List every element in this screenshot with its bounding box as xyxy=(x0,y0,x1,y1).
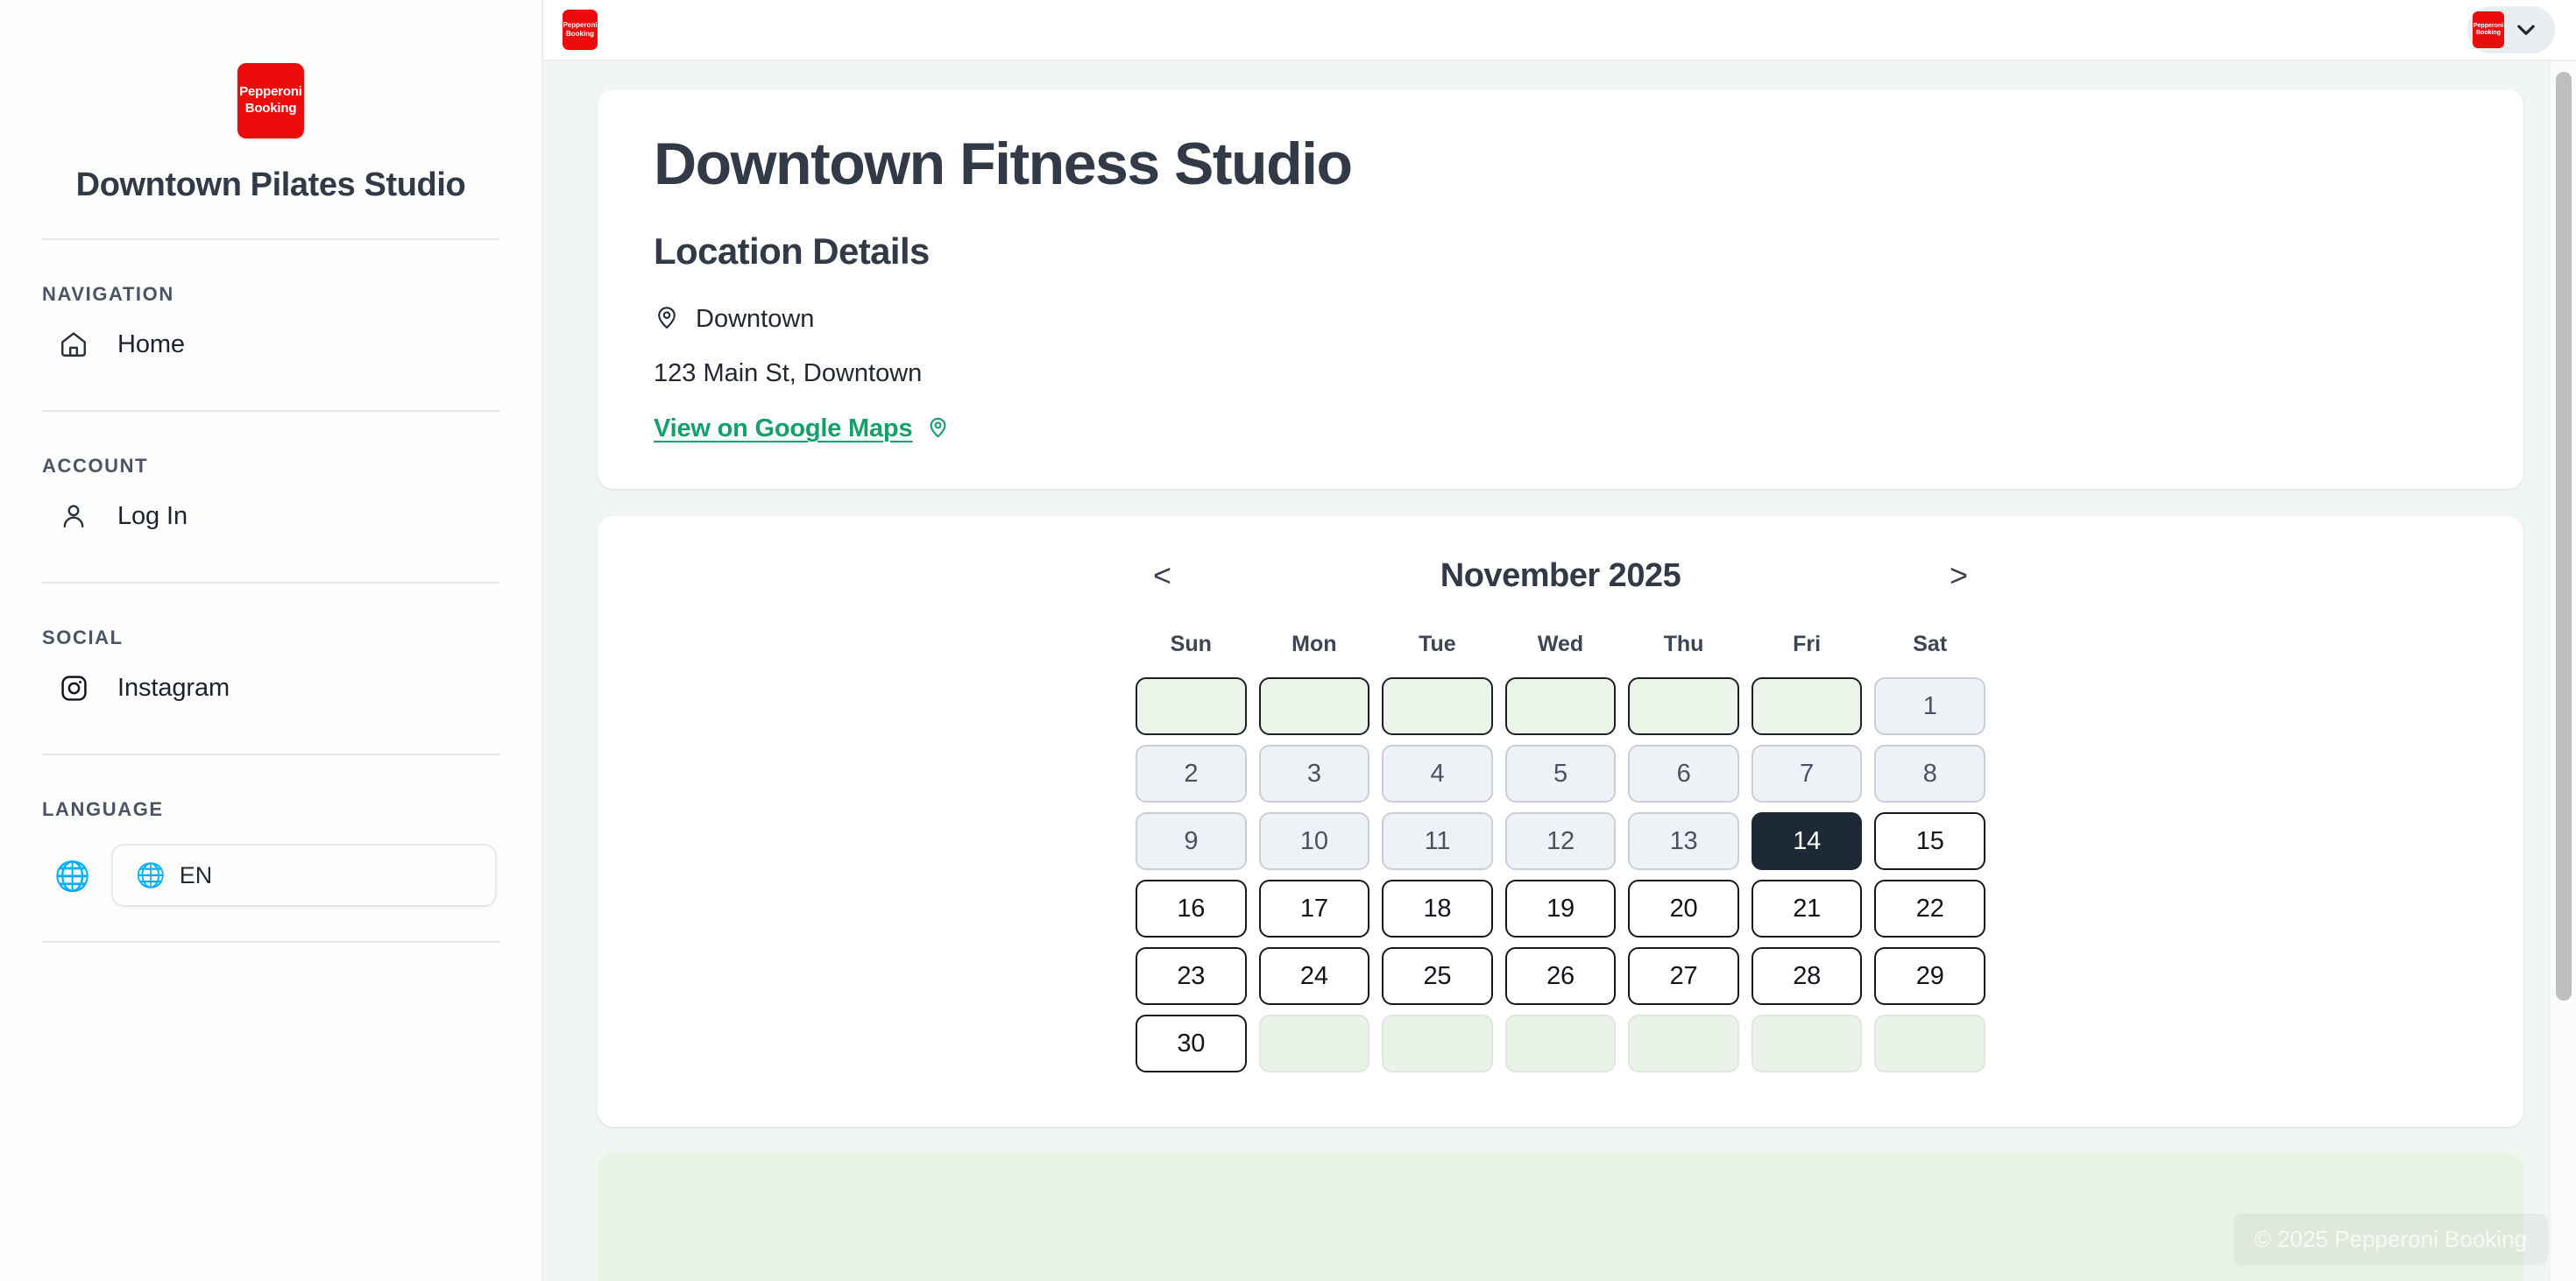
calendar-next-month-button[interactable]: > xyxy=(1937,556,1980,595)
calendar-day-5: 5 xyxy=(1505,745,1617,803)
brand-logo-line1: Pepperoni xyxy=(239,84,302,99)
calendar-day-7: 7 xyxy=(1752,745,1863,803)
account-avatar: Pepperoni Booking xyxy=(2473,11,2504,48)
studio-name: Downtown Pilates Studio xyxy=(76,166,466,204)
language-select[interactable]: 🌐 EN xyxy=(111,844,497,907)
sidebar-section-label-account: ACCOUNT xyxy=(42,455,499,478)
calendar-day-24[interactable]: 24 xyxy=(1259,947,1370,1005)
user-icon xyxy=(56,499,91,534)
calendar-day-2: 2 xyxy=(1136,745,1247,803)
map-pin-icon-link xyxy=(926,415,950,443)
calendar-day-13: 13 xyxy=(1628,812,1739,870)
account-logo-line2: Booking xyxy=(2476,30,2501,36)
topbar-logo[interactable]: Pepperoni Booking xyxy=(563,10,598,50)
calendar-day-28[interactable]: 28 xyxy=(1752,947,1863,1005)
calendar-weekday-tue: Tue xyxy=(1382,632,1493,668)
account-logo-line1: Pepperoni xyxy=(2473,23,2503,29)
topbar-logo-line1: Pepperoni xyxy=(563,21,597,29)
calendar-empty-cell xyxy=(1874,1015,1985,1072)
home-icon xyxy=(56,327,91,362)
calendar-empty-cell xyxy=(1752,677,1863,735)
calendar-day-16[interactable]: 16 xyxy=(1136,880,1247,938)
calendar-day-6: 6 xyxy=(1628,745,1739,803)
scrollbar-thumb[interactable] xyxy=(2556,72,2572,1001)
calendar-day-9: 9 xyxy=(1136,812,1247,870)
calendar-weekday-fri: Fri xyxy=(1752,632,1863,668)
map-pin-icon xyxy=(654,304,680,335)
calendar-day-11: 11 xyxy=(1382,812,1493,870)
calendar-day-29[interactable]: 29 xyxy=(1874,947,1985,1005)
language-selected-value: EN xyxy=(180,862,213,889)
calendar-grid: SunMonTueWedThuFriSat1234567891011121314… xyxy=(1136,632,1985,1072)
globe-icon: 🌐 xyxy=(54,861,90,890)
language-row: 🌐 🌐 EN xyxy=(42,844,499,907)
page-title: Downtown Fitness Studio xyxy=(654,133,2467,195)
calendar-empty-cell xyxy=(1382,677,1493,735)
location-details-card: Downtown Fitness Studio Location Details… xyxy=(598,89,2523,489)
sidebar-divider-5 xyxy=(42,941,499,943)
calendar-day-26[interactable]: 26 xyxy=(1505,947,1617,1005)
calendar-empty-cell xyxy=(1628,1015,1739,1072)
location-address: 123 Main St, Downtown xyxy=(654,359,2467,388)
calendar-day-8: 8 xyxy=(1874,745,1985,803)
calendar-empty-cell xyxy=(1259,1015,1370,1072)
calendar-weekday-sat: Sat xyxy=(1874,632,1985,668)
location-name-row: Downtown xyxy=(654,304,2467,335)
calendar-day-12: 12 xyxy=(1505,812,1617,870)
calendar-day-25[interactable]: 25 xyxy=(1382,947,1493,1005)
calendar-empty-cell xyxy=(1752,1015,1863,1072)
sidebar-divider-1 xyxy=(42,238,499,240)
calendar-day-15[interactable]: 15 xyxy=(1874,812,1985,870)
calendar-header: < November 2025 > xyxy=(1136,556,1985,595)
calendar-day-14[interactable]: 14 xyxy=(1752,812,1863,870)
sidebar-section-label-navigation: NAVIGATION xyxy=(42,283,499,306)
sidebar-item-home[interactable]: Home xyxy=(42,313,499,376)
location-details-heading: Location Details xyxy=(654,230,2467,272)
calendar-day-4: 4 xyxy=(1382,745,1493,803)
globe-icon-inline: 🌐 xyxy=(136,864,166,888)
calendar-day-27[interactable]: 27 xyxy=(1628,947,1739,1005)
calendar-day-10: 10 xyxy=(1259,812,1370,870)
sidebar-brand: Pepperoni Booking Downtown Pilates Studi… xyxy=(42,0,499,204)
calendar-day-23[interactable]: 23 xyxy=(1136,947,1247,1005)
calendar-empty-cell xyxy=(1259,677,1370,735)
view-on-google-maps-link[interactable]: View on Google Maps xyxy=(654,414,912,443)
calendar-day-17[interactable]: 17 xyxy=(1259,880,1370,938)
calendar-day-1: 1 xyxy=(1874,677,1985,735)
scroll-area: Downtown Fitness Studio Location Details… xyxy=(543,61,2576,1281)
sidebar-divider-3 xyxy=(42,582,499,584)
calendar-day-19[interactable]: 19 xyxy=(1505,880,1617,938)
sidebar-section-label-language: LANGUAGE xyxy=(42,798,499,821)
account-menu-button[interactable]: Pepperoni Booking xyxy=(2467,6,2555,53)
calendar-day-21[interactable]: 21 xyxy=(1752,880,1863,938)
calendar: < November 2025 > SunMonTueWedThuFriSat1… xyxy=(1136,556,1985,1072)
app-root: Pepperoni Booking Downtown Pilates Studi… xyxy=(0,0,2576,1281)
brand-logo: Pepperoni Booking xyxy=(237,63,304,138)
calendar-day-18[interactable]: 18 xyxy=(1382,880,1493,938)
calendar-weekday-wed: Wed xyxy=(1505,632,1617,668)
sidebar-divider-2 xyxy=(42,410,499,412)
chevron-down-icon[interactable] xyxy=(2506,10,2546,50)
calendar-day-22[interactable]: 22 xyxy=(1874,880,1985,938)
sidebar: Pepperoni Booking Downtown Pilates Studi… xyxy=(0,0,543,1281)
instagram-icon xyxy=(56,670,91,705)
location-name: Downtown xyxy=(696,305,814,334)
calendar-weekday-sun: Sun xyxy=(1136,632,1247,668)
calendar-weekday-mon: Mon xyxy=(1259,632,1370,668)
maps-link-row: View on Google Maps xyxy=(654,414,2467,443)
sidebar-section-label-social: SOCIAL xyxy=(42,626,499,649)
sidebar-item-login-label: Log In xyxy=(117,502,188,531)
calendar-prev-month-button[interactable]: < xyxy=(1141,556,1184,595)
scrollbar[interactable] xyxy=(2550,61,2576,1281)
calendar-month-title: November 2025 xyxy=(1440,557,1681,595)
calendar-empty-cell xyxy=(1628,677,1739,735)
sidebar-item-instagram-label: Instagram xyxy=(117,674,230,703)
calendar-day-3: 3 xyxy=(1259,745,1370,803)
calendar-empty-cell xyxy=(1505,677,1617,735)
top-bar: Pepperoni Booking Pepperoni Booking xyxy=(543,0,2576,61)
calendar-empty-cell xyxy=(1382,1015,1493,1072)
calendar-card: < November 2025 > SunMonTueWedThuFriSat1… xyxy=(598,516,2523,1127)
calendar-day-20[interactable]: 20 xyxy=(1628,880,1739,938)
calendar-day-30[interactable]: 30 xyxy=(1136,1015,1247,1072)
sidebar-item-instagram[interactable]: Instagram xyxy=(42,656,499,719)
brand-logo-line2: Booking xyxy=(245,101,297,116)
sidebar-item-login[interactable]: Log In xyxy=(42,485,499,548)
sidebar-item-home-label: Home xyxy=(117,330,185,359)
sidebar-divider-4 xyxy=(42,754,499,755)
calendar-empty-cell xyxy=(1505,1015,1617,1072)
calendar-empty-cell xyxy=(1136,677,1247,735)
topbar-logo-line2: Booking xyxy=(566,30,594,38)
time-slots-card xyxy=(598,1153,2523,1281)
right-pane: Pepperoni Booking Pepperoni Booking xyxy=(543,0,2576,1281)
calendar-weekday-thu: Thu xyxy=(1628,632,1739,668)
